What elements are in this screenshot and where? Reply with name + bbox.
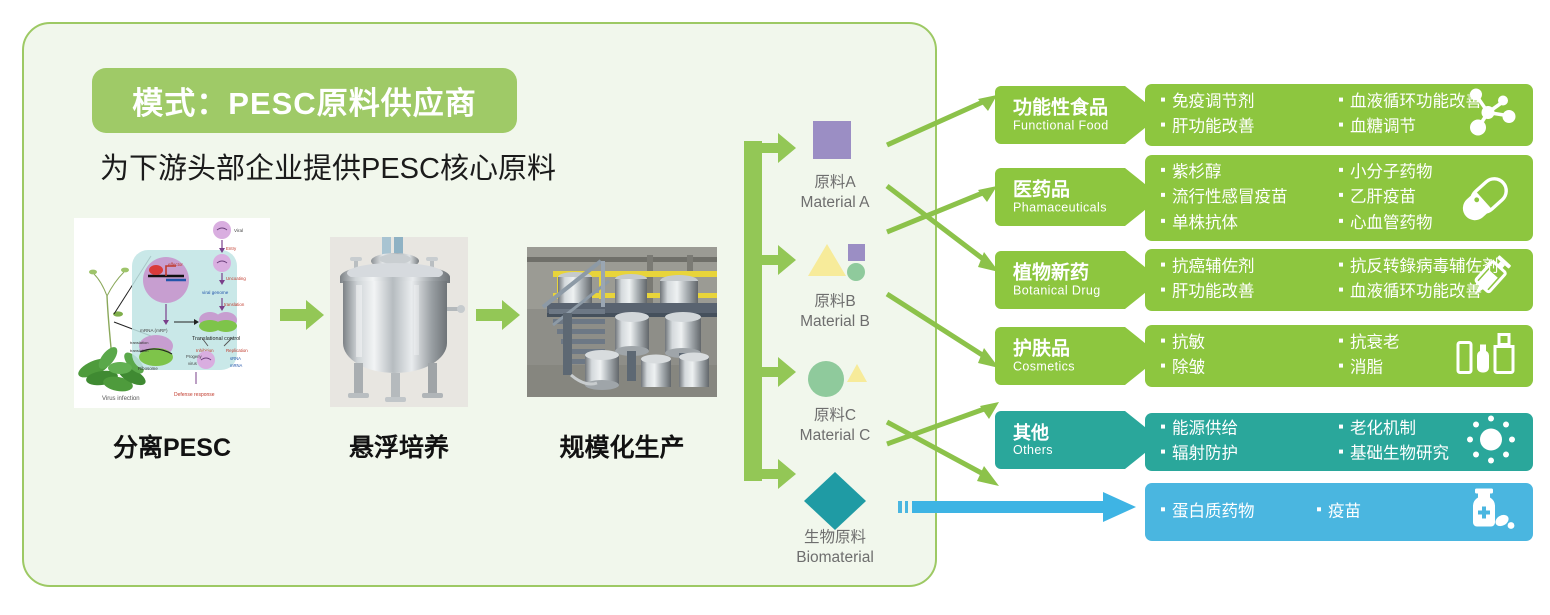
biomaterial-shape (800, 470, 870, 537)
material-a-en: Material A (801, 194, 870, 211)
svg-text:Ribosome: Ribosome (138, 366, 158, 371)
material-b-cn: 原料B (814, 293, 855, 310)
category-box-biomaterial-products[interactable]: 蛋白质药物 疫苗 (1145, 483, 1533, 541)
list-item: 心血管药物 (1337, 212, 1433, 235)
mode-title-pill: 模式：PESC原料供应商 (92, 68, 517, 133)
syringe-icon (1463, 251, 1517, 310)
category-box-functional-food[interactable]: 免疫调节剂 血液循环功能改善 肝功能改善 血糖调节 (1145, 84, 1533, 146)
category-4-items: 抗敏 抗衰老 除皱 消脂 (1159, 332, 1400, 381)
category-box-pharmaceuticals[interactable]: 紫杉醇 小分子药物 流行性感冒疫苗 乙肝疫苗 单株抗体 心血管药物 (1145, 155, 1533, 241)
svg-text:translation: translation (224, 302, 245, 307)
biomaterial-label: 生物原料 Biomaterial (765, 528, 905, 568)
svg-text:Progeny: Progeny (186, 354, 203, 359)
list-item: 肝功能改善 (1159, 281, 1331, 304)
diagonal-arrow-4 (885, 290, 1005, 385)
svg-text:Defense response: Defense response (174, 392, 215, 398)
capsule-icon (1461, 168, 1517, 229)
diagonal-arrow-3 (885, 182, 1005, 287)
list-item: 老化机制 (1337, 418, 1449, 441)
list-item: 疫苗 (1315, 500, 1361, 523)
molecule-icon (1461, 89, 1517, 142)
category-box-cosmetics[interactable]: 抗敏 抗衰老 除皱 消脂 (1145, 325, 1533, 387)
list-item: 小分子药物 (1337, 161, 1433, 184)
list-item: 抗敏 (1159, 332, 1331, 355)
svg-text:viral genome: viral genome (202, 290, 229, 295)
svg-text:Viral: Viral (234, 228, 243, 233)
material-a-cn: 原料A (814, 174, 855, 191)
svg-text:mRNA: mRNA (230, 363, 243, 368)
list-item: 乙肝疫苗 (1337, 186, 1433, 209)
list-item: 肝功能改善 (1159, 116, 1331, 139)
svg-text:translation: translation (130, 340, 148, 345)
biomaterial-en: Biomaterial (796, 549, 874, 566)
process-label-1: 分离PESC (74, 428, 270, 464)
category-3-items: 抗癌辅佐剂 抗反转錄病毒辅佐剂 肝功能改善 血液循环功能改善 (1159, 256, 1499, 305)
svg-text:Virus infection: Virus infection (102, 396, 140, 402)
process-arrow-2 (476, 300, 520, 335)
material-b-en: Material B (800, 313, 870, 330)
svg-text:sRNA: sRNA (230, 356, 241, 361)
mode-title-text: 模式：PESC原料供应商 (132, 78, 476, 123)
list-item: 蛋白质药物 (1159, 500, 1309, 523)
pesc-cell-pathway-diagram: Virus infection effector mRNA (mRF) Ribo… (74, 218, 270, 408)
material-c-cn: 原料C (814, 407, 856, 424)
category-box-botanical-drug[interactable]: 抗癌辅佐剂 抗反转錄病毒辅佐剂 肝功能改善 血液循环功能改善 (1145, 249, 1533, 311)
stainless-bioreactor-photo (330, 237, 468, 407)
svg-text:virus: virus (188, 361, 197, 366)
list-item: 除皱 (1159, 357, 1331, 380)
vial-icon (1463, 485, 1517, 540)
category-5-items: 能源供给 老化机制 辐射防护 基础生物研究 (1159, 418, 1449, 467)
biomaterial-cn: 生物原料 (804, 529, 866, 546)
cosmetics-icon (1455, 331, 1517, 382)
category-tag-others[interactable]: 其他 Others (995, 411, 1161, 469)
svg-text:Entry: Entry (226, 246, 237, 251)
list-item: 单株抗体 (1159, 212, 1331, 235)
material-a-shape (813, 121, 853, 166)
production-facility-photo (527, 247, 717, 397)
material-c-en: Material C (800, 427, 871, 444)
category-tag-pharmaceuticals[interactable]: 医药品 Phamaceuticals (995, 168, 1161, 226)
category-tag-botanical-drug[interactable]: 植物新药 Botanical Drug (995, 251, 1161, 309)
list-item: 流行性感冒疫苗 (1159, 186, 1331, 209)
process-label-3: 规模化生产 (522, 428, 722, 464)
list-item: 抗癌辅佐剂 (1159, 256, 1331, 279)
category-6-items: 蛋白质药物 疫苗 (1159, 500, 1361, 523)
material-b-shape (806, 238, 868, 287)
process-arrow-1 (280, 300, 324, 335)
list-item: 基础生物研究 (1337, 443, 1449, 466)
svg-text:translation: translation (130, 348, 148, 353)
list-item: 消脂 (1337, 357, 1400, 380)
list-item: 紫杉醇 (1159, 161, 1331, 184)
diagonal-arrow-1 (885, 95, 1000, 155)
svg-text:mRNA (mRF): mRNA (mRF) (140, 328, 168, 333)
svg-text:Translational control: Translational control (192, 336, 240, 342)
process-label-2: 悬浮培养 (322, 428, 476, 464)
list-item: 免疫调节剂 (1159, 91, 1331, 114)
sun-icon (1465, 414, 1517, 471)
category-box-others[interactable]: 能源供给 老化机制 辐射防护 基础生物研究 (1145, 413, 1533, 471)
material-a-label: 原料A Material A (770, 173, 900, 213)
svg-text:Uncoating: Uncoating (226, 276, 246, 281)
subtitle-text: 为下游头部企业提供PESC核心原料 (100, 145, 556, 187)
svg-text:Replication: Replication (226, 348, 248, 353)
svg-text:effector: effector (168, 262, 183, 267)
material-c-shape (806, 358, 868, 405)
biomaterial-blue-arrow (898, 490, 1138, 529)
category-tag-functional-food[interactable]: 功能性食品 Functional Food (995, 86, 1161, 144)
category-2-items: 紫杉醇 小分子药物 流行性感冒疫苗 乙肝疫苗 单株抗体 心血管药物 (1159, 161, 1433, 235)
material-b-label: 原料B Material B (770, 292, 900, 332)
category-1-items: 免疫调节剂 血液循环功能改善 肝功能改善 血糖调节 (1159, 91, 1482, 140)
list-item: 抗衰老 (1337, 332, 1400, 355)
material-c-label: 原料C Material C (770, 406, 900, 446)
list-item: 辐射防护 (1159, 443, 1331, 466)
category-tag-cosmetics[interactable]: 护肤品 Cosmetics (995, 327, 1161, 385)
list-item: 能源供给 (1159, 418, 1331, 441)
